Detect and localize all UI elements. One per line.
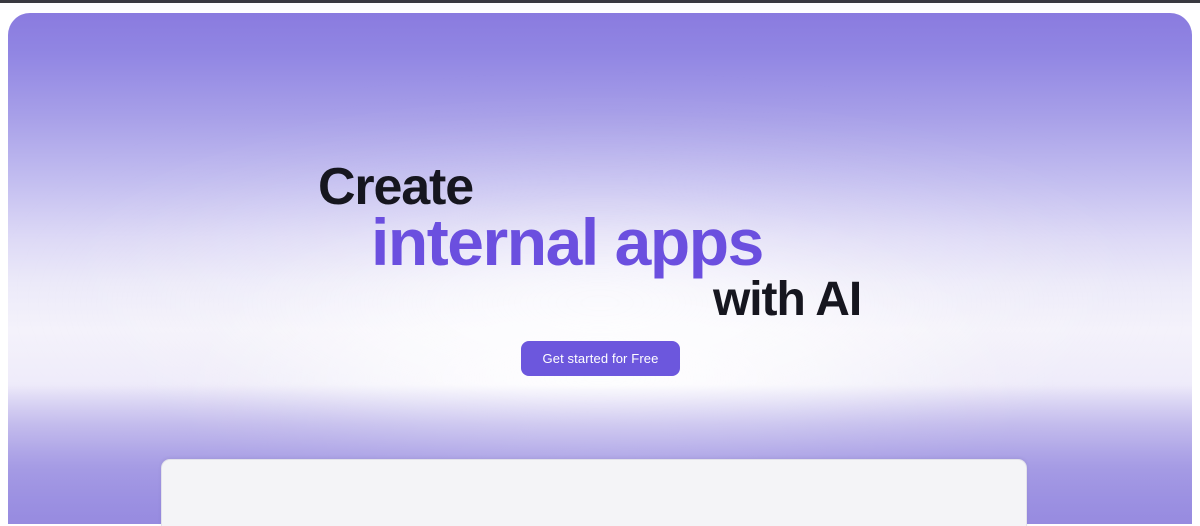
get-started-button[interactable]: Get started for Free: [521, 341, 680, 376]
hero-headline: Create internal apps with AI: [8, 13, 1192, 343]
headline-line-with-ai: with AI: [713, 276, 861, 324]
hero-section: Create internal apps with AI Get started…: [8, 13, 1192, 524]
headline-line-internal-apps: internal apps: [371, 209, 763, 275]
app-preview-card[interactable]: [161, 459, 1027, 526]
page-surface: Create internal apps with AI Get started…: [0, 3, 1200, 521]
